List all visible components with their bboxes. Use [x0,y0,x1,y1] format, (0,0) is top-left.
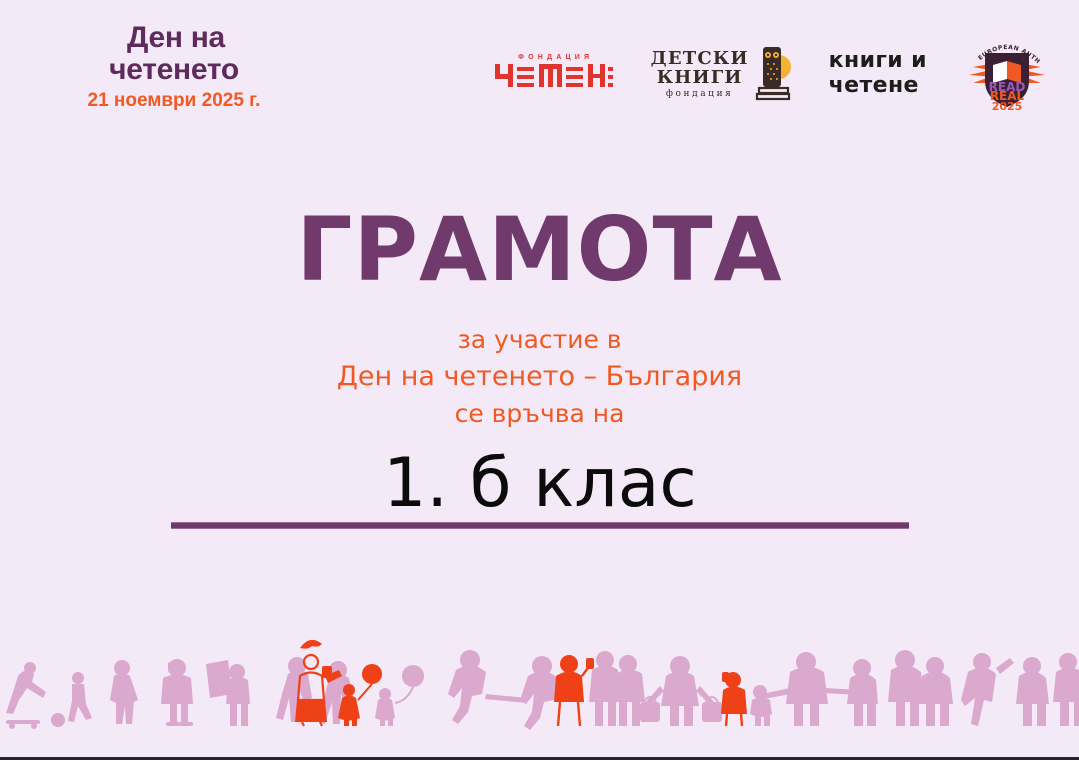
knigi-i-chetene-line2: четене [829,74,919,99]
knigi-i-chetene-line1: книги и [829,49,927,74]
event-logo: Ден на четенето 21 ноември 2025 г. [44,22,304,115]
certificate-page: Ден на четенето 21 ноември 2025 г. ФОНДА… [0,0,1079,760]
read-is-real-badge-icon: EUROPEAN AUTHORS DAY READ REAL 2025 [965,37,1049,111]
detski-knigi-text: ДЕТСКИ КНИГИ фондация [651,49,749,100]
certificate-subtitle: за участие в Ден на четенето – България … [0,322,1079,431]
sponsor-logo-row: ФОНДАЦИЯ [495,36,1049,112]
recipient-underline [171,522,909,529]
event-logo-date: 21 ноември 2025 г. [44,88,304,115]
people-silhouettes-icon [0,632,1079,732]
subtitle-line-3: се връчва на [0,396,1079,432]
badge-year-text: 2025 [992,100,1023,111]
certificate-title: ГРАМОТА [0,206,1079,294]
sponsor-logo-detski-knigi: ДЕТСКИ КНИГИ фондация [651,36,791,112]
recipient-field: 1. б клас [171,447,909,529]
owl-on-books-icon [755,43,791,105]
sponsor-logo-read-is-real: EUROPEAN AUTHORS DAY READ REAL 2025 [965,36,1049,112]
recipient-name: 1. б клас [171,447,909,520]
header: Ден на четенето 21 ноември 2025 г. ФОНДА… [0,0,1079,140]
detski-knigi-line1: ДЕТСКИ [651,49,749,68]
sponsor-chetene-kicker: ФОНДАЦИЯ [518,54,593,61]
chetene-wordmark-icon [495,64,613,94]
subtitle-line-1: за участие в [0,322,1079,358]
event-logo-line2: четенето [44,54,304,86]
detski-knigi-line2: КНИГИ [651,68,749,87]
event-logo-line1: Ден на [48,22,304,54]
footer-silhouette-band [0,632,1079,732]
detski-knigi-line3: фондация [651,89,749,99]
subtitle-line-2: Ден на четенето – България [0,358,1079,396]
sponsor-logo-knigi-i-chetene: книги и четене [829,36,927,112]
sponsor-logo-fondacia-chetene: ФОНДАЦИЯ [495,36,613,112]
